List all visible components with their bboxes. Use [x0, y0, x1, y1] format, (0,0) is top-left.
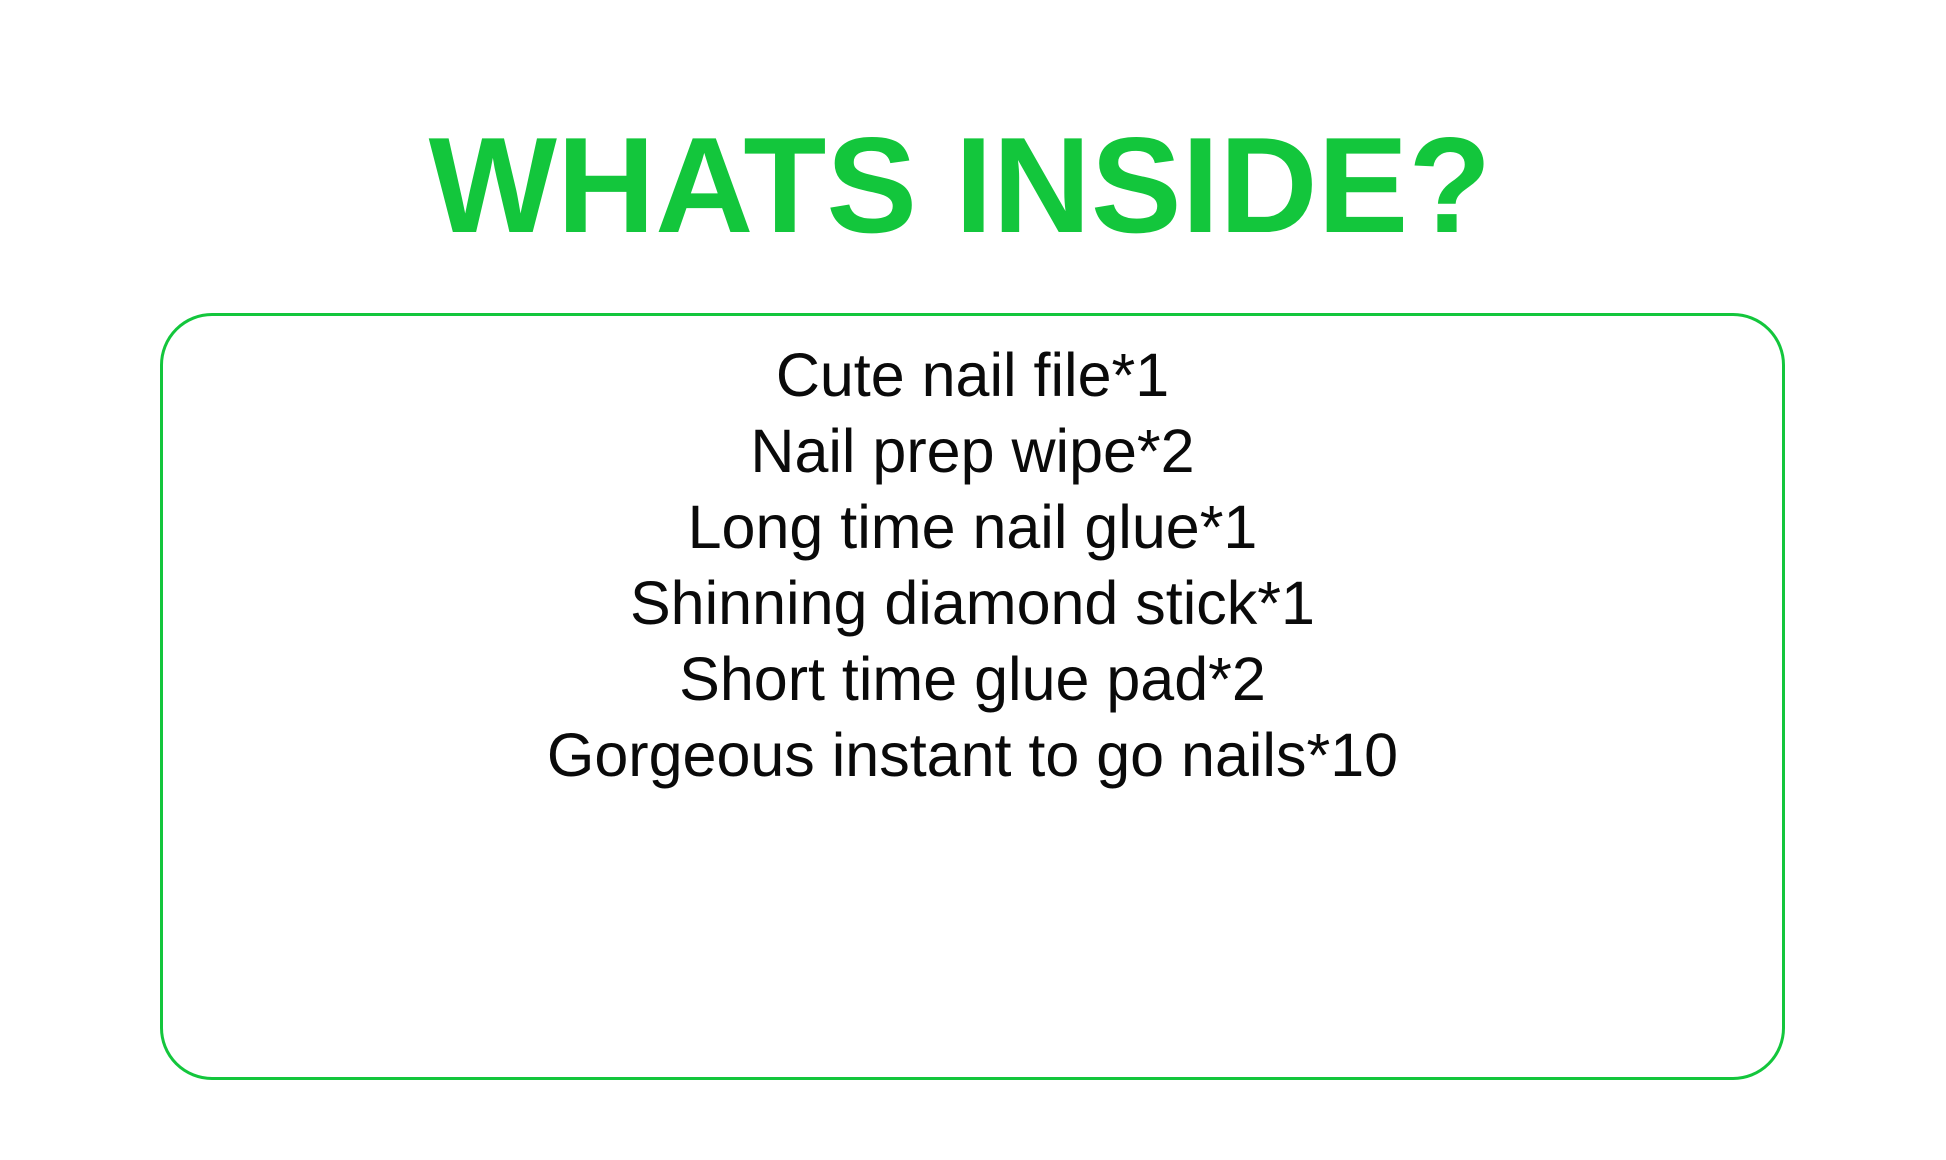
whats-inside-panel: WHATS INSIDE? Cute nail file*1 Nail prep…	[0, 0, 1946, 1160]
contents-card: Cute nail file*1 Nail prep wipe*2 Long t…	[160, 313, 1785, 1080]
list-item: Shinning diamond stick*1	[630, 565, 1315, 641]
list-item: Long time nail glue*1	[688, 489, 1258, 565]
contents-list: Cute nail file*1 Nail prep wipe*2 Long t…	[163, 316, 1782, 1077]
page-title: WHATS INSIDE?	[0, 117, 1920, 253]
list-item: Gorgeous instant to go nails*10	[547, 717, 1398, 793]
list-item: Cute nail file*1	[776, 337, 1169, 413]
list-item: Nail prep wipe*2	[750, 413, 1194, 489]
list-item: Short time glue pad*2	[679, 641, 1266, 717]
